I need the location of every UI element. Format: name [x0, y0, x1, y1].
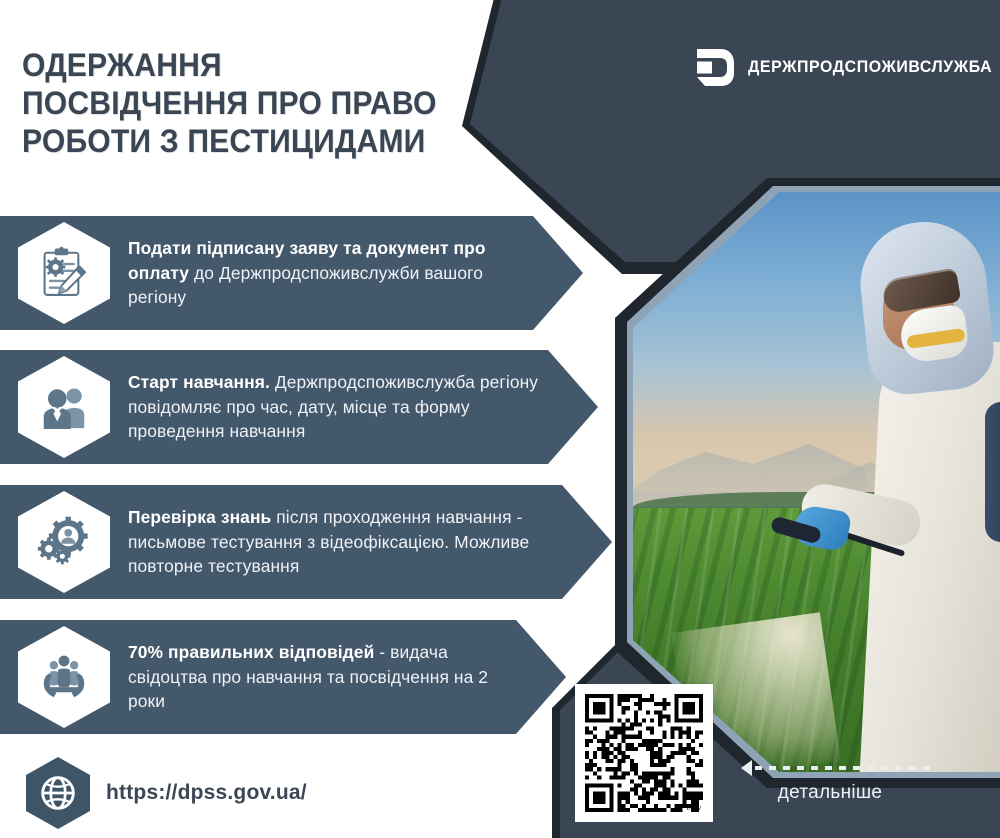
step-item-4[interactable]: 70% правильних відповідей - видача свідо… [0, 620, 566, 734]
page-title: ОДЕРЖАННЯ ПОСВІДЧЕННЯ ПРО ПРАВО РОБОТИ З… [22, 47, 464, 160]
gears-person-icon [18, 491, 110, 593]
detail-callout: детальніше [730, 760, 930, 804]
brand-logo: ДЕРЖПРОДСПОЖИВСЛУЖБА [695, 47, 1000, 88]
photo-worker-body [860, 342, 1000, 772]
qr-code-canvas [585, 694, 703, 812]
people-group-icon [18, 356, 110, 458]
step-3-bold: Перевірка знань [128, 507, 271, 527]
infographic-canvas: ОДЕРЖАННЯ ПОСВІДЧЕННЯ ПРО ПРАВО РОБОТИ З… [0, 0, 1000, 838]
step-4-text: 70% правильних відповідей - видача свідо… [128, 640, 526, 714]
step-2-bold: Старт навчання. [128, 372, 270, 392]
dashed-left-arrow-icon [730, 760, 930, 776]
step-3-text: Перевірка знань після проходження навчан… [128, 505, 572, 579]
title-line-1: ОДЕРЖАННЯ [22, 47, 464, 85]
title-line-3: РОБОТИ З ПЕСТИЦИДАМИ [22, 123, 464, 161]
qr-signature: bitly [687, 803, 701, 812]
arrow-dashes [755, 766, 930, 770]
step-item-2[interactable]: Старт навчання. Держпродспоживслужба рег… [0, 350, 598, 464]
qr-code[interactable]: bitly [575, 684, 713, 822]
title-line-2: ПОСВІДЧЕННЯ ПРО ПРАВО [22, 85, 464, 123]
dpss-logo-mark-icon [695, 47, 735, 88]
detail-label: детальніше [730, 782, 930, 804]
step-4-bold: 70% правильних відповідей [128, 642, 374, 662]
logo-text: ДЕРЖПРОДСПОЖИВСЛУЖБА [748, 58, 992, 77]
step-1-text: Подати підписану заяву та документ про о… [128, 236, 543, 310]
arrow-head [730, 760, 752, 776]
clipboard-gear-pencil-icon [18, 222, 110, 324]
website-url-text[interactable]: https://dpss.gov.ua/ [106, 781, 307, 805]
photo-worker-tank [985, 402, 1000, 542]
globe-icon [26, 757, 90, 829]
step-2-text: Старт навчання. Держпродспоживслужба рег… [128, 370, 558, 444]
website-link[interactable]: https://dpss.gov.ua/ [26, 757, 307, 829]
step-item-1[interactable]: Подати підписану заяву та документ про о… [0, 216, 583, 330]
step-item-3[interactable]: Перевірка знань після проходження навчан… [0, 485, 612, 599]
hands-holding-people-icon [18, 626, 110, 728]
